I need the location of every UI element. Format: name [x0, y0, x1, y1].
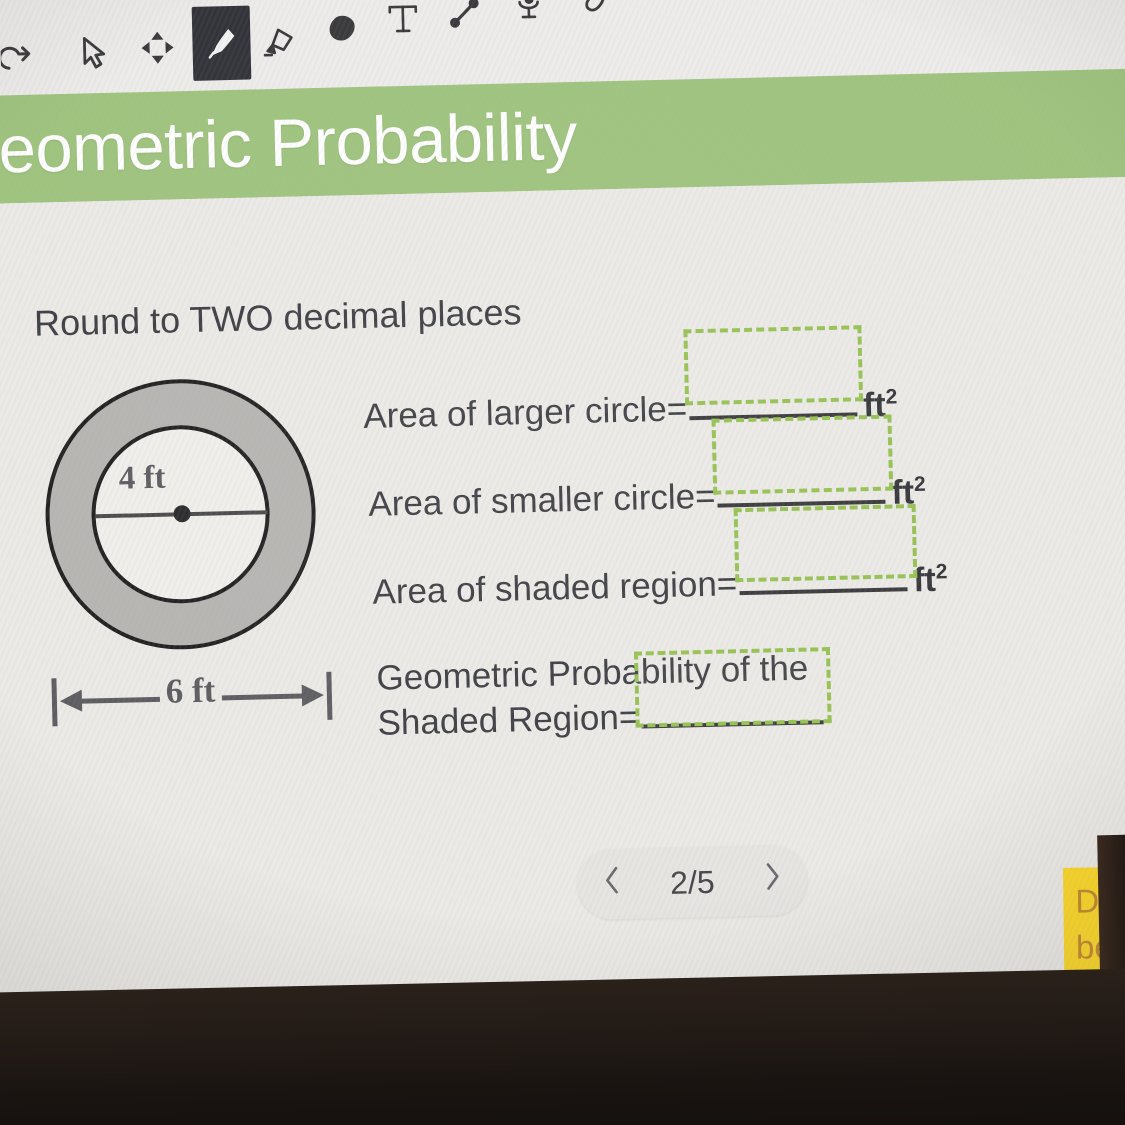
- chevron-right-icon[interactable]: [763, 861, 782, 899]
- line-shape-icon[interactable]: [438, 0, 491, 39]
- answer-box-shaded-region[interactable]: [733, 504, 917, 582]
- select-cursor-icon[interactable]: [67, 27, 120, 80]
- question-row-geometric-probability: Geometric Probability of the Shaded Regi…: [376, 646, 826, 746]
- camera-icon[interactable]: [630, 0, 683, 13]
- page-title: Geometric Probability: [0, 97, 578, 189]
- dimension-tick-right: [326, 672, 332, 720]
- question-label-geometric-probability-line2: Shaded Region=: [377, 695, 640, 746]
- question-label-larger-circle: Area of larger circle=: [363, 389, 688, 437]
- eraser-icon[interactable]: [317, 3, 370, 56]
- worksheet-page: Round to TWO decimal places 4 ft 6 ft: [0, 176, 1125, 995]
- move-icon[interactable]: [131, 21, 184, 74]
- answer-box-larger-circle[interactable]: [683, 325, 863, 405]
- back-chevron-icon[interactable]: [0, 0, 3, 30]
- question-label-shaded-region: Area of shaded region=: [372, 564, 738, 613]
- answer-blank-shaded-region[interactable]: [737, 560, 910, 604]
- redo-icon[interactable]: [0, 34, 44, 87]
- arrow-right-icon: [302, 684, 325, 707]
- answer-blank-geometric-probability[interactable]: [639, 691, 826, 740]
- answer-box-smaller-circle[interactable]: [712, 415, 894, 495]
- device-bezel-bottom: [0, 966, 1125, 1125]
- unit-label-shaded-region: ft2: [913, 560, 948, 600]
- outer-diameter-label: 6 ft: [159, 670, 221, 711]
- text-icon[interactable]: [376, 0, 429, 45]
- pagination-control: 2/5: [577, 845, 809, 920]
- outer-dimension-line: 6 ft: [51, 664, 332, 731]
- inner-diameter-label: 4 ft: [118, 460, 166, 498]
- highlighter-icon[interactable]: [255, 14, 308, 67]
- answer-box-geometric-probability[interactable]: [634, 647, 832, 728]
- answer-underline-shaded-region[interactable]: [739, 587, 907, 595]
- page-indicator: 2/5: [670, 863, 715, 901]
- question-row-shaded-region: Area of shaded region= ft2: [372, 559, 948, 613]
- link-icon[interactable]: [566, 0, 619, 22]
- question-label-smaller-circle: Area of smaller circle=: [368, 477, 716, 525]
- tablet-screen: Geometric Probability Round to TWO decim…: [0, 0, 1125, 1014]
- chevron-left-icon[interactable]: [603, 865, 622, 903]
- annulus-diagram: 4 ft 6 ft: [42, 375, 350, 712]
- dimension-tick-left: [51, 678, 57, 726]
- arrow-left-icon: [60, 690, 83, 713]
- photo-of-screen: Geometric Probability Round to TWO decim…: [0, 0, 1125, 1125]
- pen-icon[interactable]: [192, 6, 252, 81]
- instruction-text: Round to TWO decimal places: [34, 291, 522, 344]
- microphone-icon[interactable]: [502, 0, 555, 30]
